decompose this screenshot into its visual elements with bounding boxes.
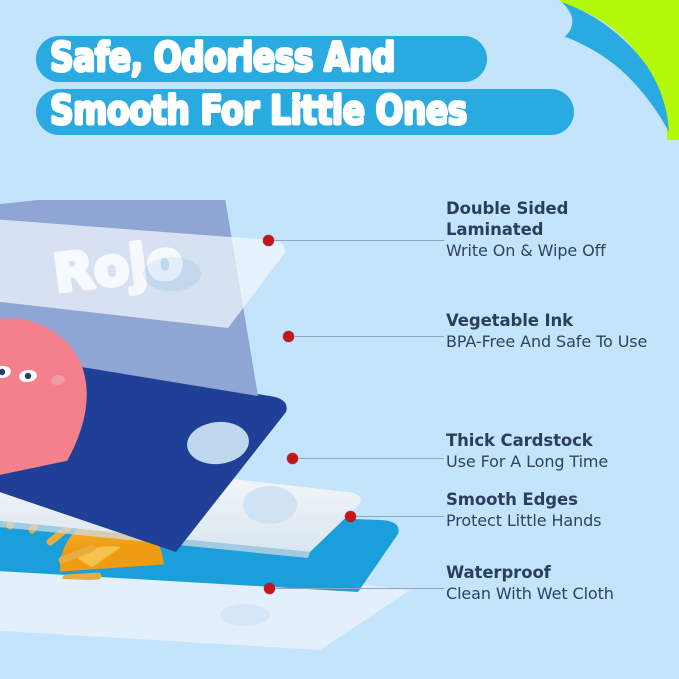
callout-subtitle: Write On & Wipe Off bbox=[446, 241, 606, 262]
callout-dot-vegetable-ink bbox=[283, 331, 294, 342]
callout-title-line1: Thick Cardstock bbox=[446, 430, 608, 451]
callout-subtitle: Protect Little Hands bbox=[446, 511, 601, 532]
callout-smooth-edges: Smooth Edges Protect Little Hands bbox=[446, 489, 601, 532]
callout-dot-double-sided bbox=[263, 235, 274, 246]
white-card-hole bbox=[243, 486, 297, 524]
headline-line-1: Safe, Odorless And bbox=[36, 36, 636, 82]
callout-subtitle: Clean With Wet Cloth bbox=[446, 584, 614, 605]
infographic-canvas: Safe, Odorless And Smooth For Little One… bbox=[0, 0, 679, 679]
callout-vegetable-ink: Vegetable Ink BPA-Free And Safe To Use bbox=[446, 310, 647, 353]
callout-dot-smooth-edges bbox=[345, 511, 356, 522]
callout-title-line1: Double Sided bbox=[446, 198, 606, 219]
headline-text-1: Safe, Odorless And bbox=[50, 38, 395, 78]
headline-pill-1: Safe, Odorless And bbox=[36, 36, 487, 82]
callout-dot-waterproof bbox=[264, 583, 275, 594]
product-card-stack: Rojo bbox=[0, 200, 440, 670]
top-sheet-hole bbox=[143, 257, 201, 291]
callout-dot-thick-cardstock bbox=[287, 453, 298, 464]
headline-text-2: Smooth For Little Ones bbox=[50, 91, 467, 131]
callout-title-line1: Waterproof bbox=[446, 562, 614, 583]
corner-bg-notch bbox=[549, 0, 572, 38]
callout-waterproof: Waterproof Clean With Wet Cloth bbox=[446, 562, 614, 605]
headline-pill-2: Smooth For Little Ones bbox=[36, 89, 574, 135]
callout-title-line2: Laminated bbox=[446, 219, 606, 240]
callout-thick-cardstock: Thick Cardstock Use For A Long Time bbox=[446, 430, 608, 473]
headline-line-2: Smooth For Little Ones bbox=[36, 89, 636, 135]
callout-subtitle: Use For A Long Time bbox=[446, 452, 608, 473]
callout-subtitle: BPA-Free And Safe To Use bbox=[446, 332, 647, 353]
callout-title-line1: Vegetable Ink bbox=[446, 310, 647, 331]
callout-double-sided-laminated: Double Sided Laminated Write On & Wipe O… bbox=[446, 198, 606, 262]
callout-title-line1: Smooth Edges bbox=[446, 489, 601, 510]
page-title: Safe, Odorless And Smooth For Little One… bbox=[36, 36, 636, 142]
